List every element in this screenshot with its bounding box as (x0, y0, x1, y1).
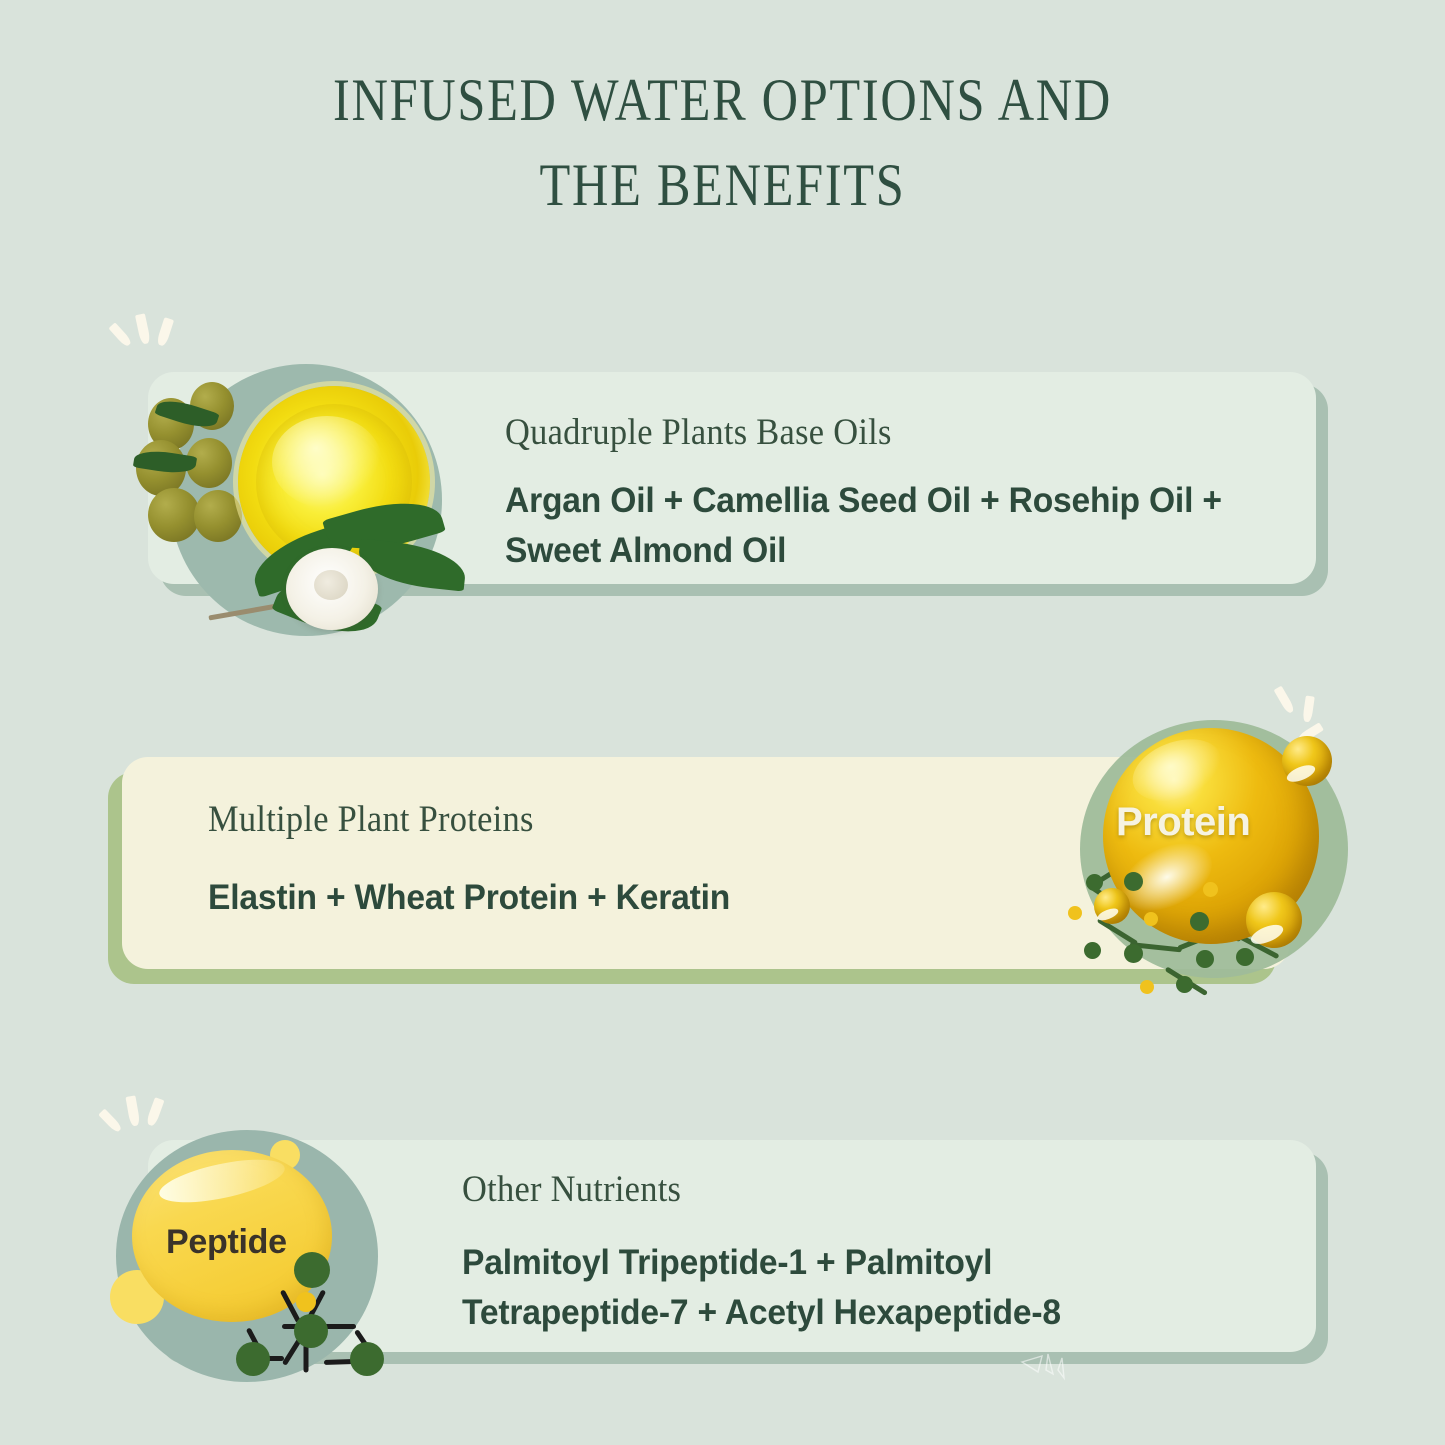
sparkle-icon (1274, 686, 1296, 715)
molecule-node (294, 1252, 330, 1288)
protein-mini-sphere-icon (1246, 892, 1302, 948)
camellia-flower-icon (286, 548, 378, 630)
molecule-node (1176, 976, 1193, 993)
card-heading-nutrients: Other Nutrients (462, 1168, 681, 1211)
sparkle-icon (108, 322, 132, 347)
card-body-oils: Argan Oil + Camellia Seed Oil + Rosehip … (505, 476, 1311, 577)
sparkle-icon (125, 1095, 140, 1126)
sparkle-icon (98, 1109, 123, 1134)
molecule-node-accent (1140, 980, 1154, 994)
molecule-node (294, 1314, 328, 1348)
molecule-node (1196, 950, 1214, 968)
molecule-node (1124, 944, 1143, 963)
watermark-sparkle-icon (1020, 1352, 1080, 1396)
sparkle-icon (135, 313, 151, 344)
olive-icon (194, 490, 242, 542)
card-body-proteins: Elastin + Wheat Protein + Keratin (208, 873, 1034, 923)
protein-label: Protein (1116, 800, 1316, 845)
sparkle-icon (156, 317, 174, 347)
molecule-node-accent (1203, 882, 1218, 897)
protein-mini-sphere-icon (1094, 888, 1130, 924)
page-title: INFUSED WATER OPTIONS AND THE BENEFITS (116, 58, 1330, 228)
sparkle-svg (1020, 1352, 1080, 1396)
molecule-node (1124, 872, 1143, 891)
card-heading-oils: Quadruple Plants Base Oils (505, 411, 892, 454)
peptide-label: Peptide (166, 1223, 287, 1262)
molecule-node (1086, 874, 1103, 891)
card-body-nutrients: Palmitoyl Tripeptide-1 + Palmitoyl Tetra… (462, 1238, 1192, 1339)
molecule-node-accent (1068, 906, 1082, 920)
molecule-node-accent (296, 1292, 316, 1312)
protein-mini-sphere-icon (1282, 736, 1332, 786)
sparkle-icon (146, 1097, 165, 1127)
molecule-node-accent (1144, 912, 1158, 926)
sparkle-icon (1302, 696, 1315, 723)
molecule-node (350, 1342, 384, 1376)
olive-icon (148, 488, 200, 542)
protein-graphic: Protein (1048, 680, 1410, 1022)
peptide-graphic: Peptide (92, 1088, 458, 1440)
card-heading-proteins: Multiple Plant Proteins (208, 798, 534, 841)
molecule-node (236, 1342, 270, 1376)
molecule-node (1084, 942, 1101, 959)
molecule-node (1236, 948, 1254, 966)
molecule-node (1190, 912, 1209, 931)
olive-oil-graphic (90, 300, 510, 670)
